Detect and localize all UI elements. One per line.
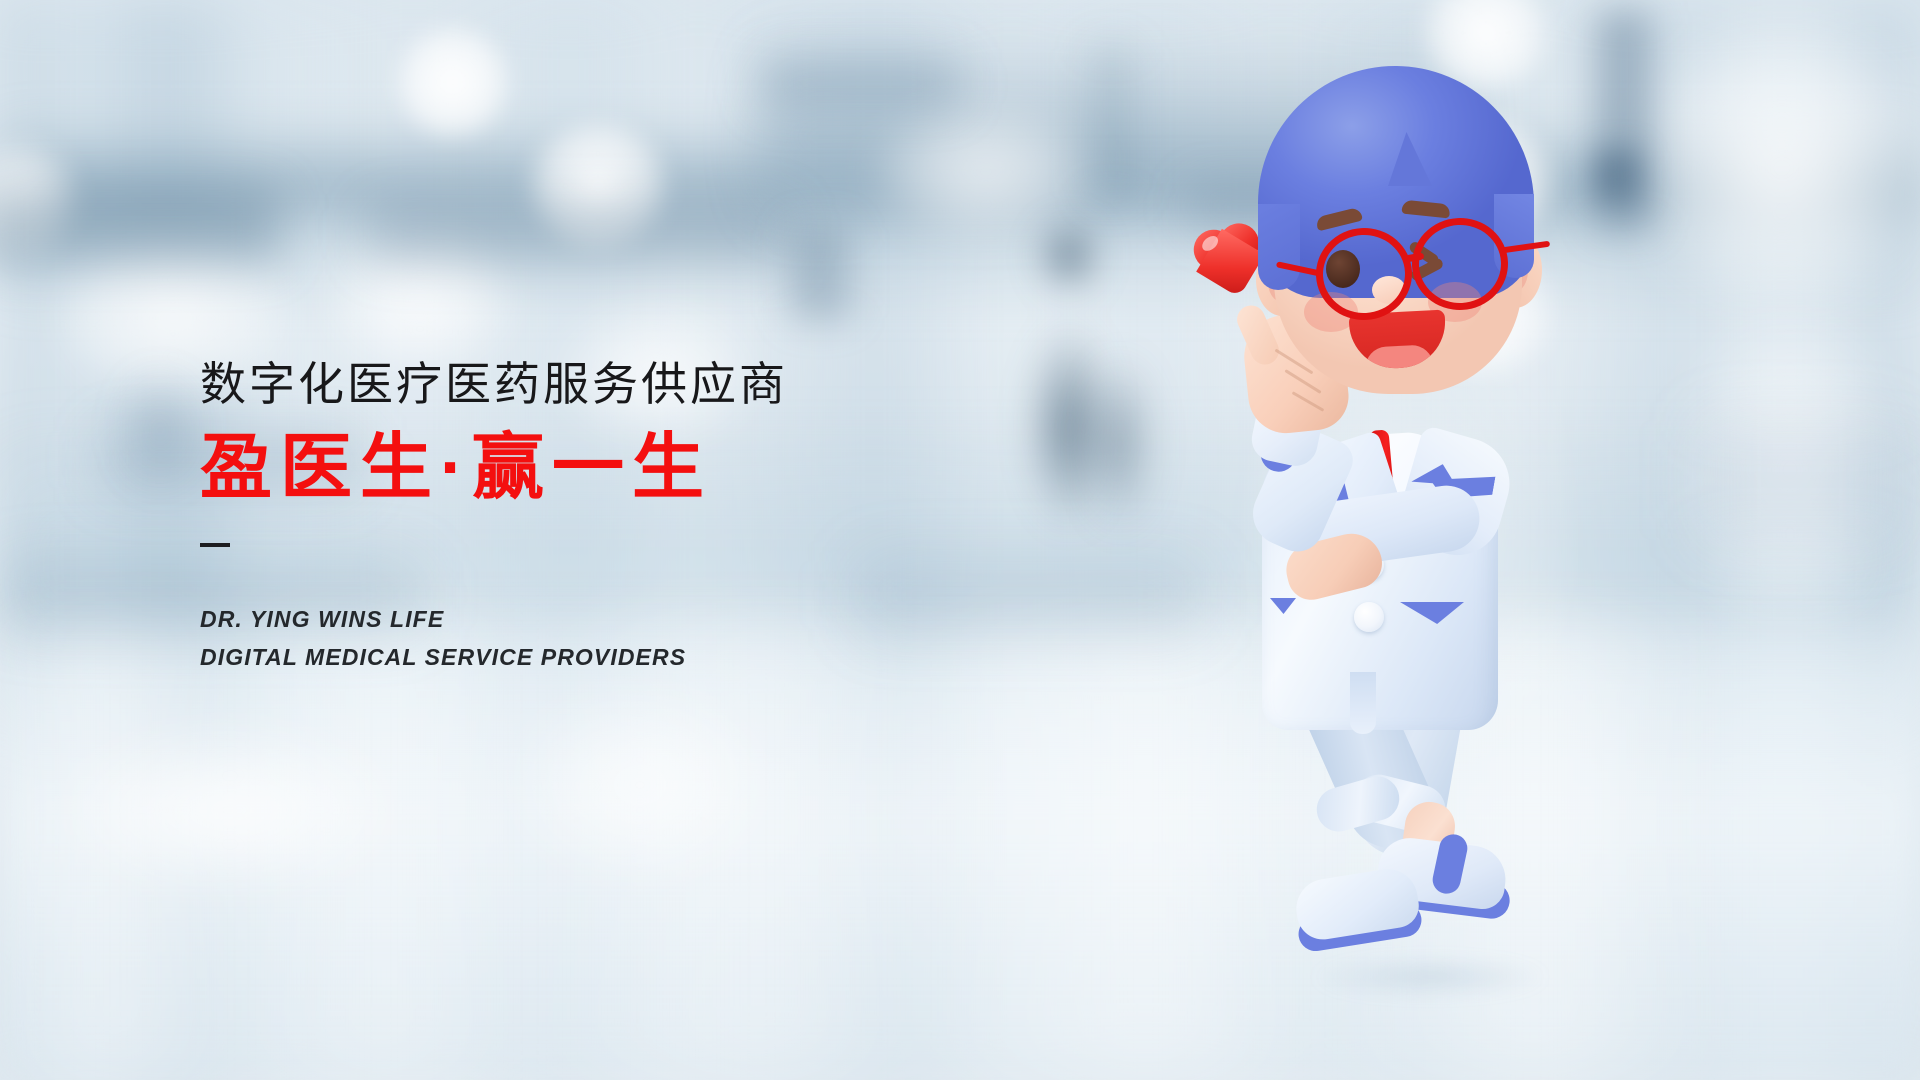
bokeh-light xyxy=(520,700,760,870)
tagline-line-1: DR. YING WINS LIFE xyxy=(200,601,1020,638)
glasses-lens-right xyxy=(1410,216,1511,313)
background-dark-panel xyxy=(0,188,280,264)
background-dark-panel xyxy=(790,226,850,320)
mascot-head xyxy=(1212,54,1542,454)
divider-rule xyxy=(200,543,230,547)
glasses-icon xyxy=(1262,214,1552,324)
mascot-tongue xyxy=(1364,344,1434,370)
bokeh-light xyxy=(1632,28,1920,308)
background-dark-panel xyxy=(1700,420,1900,540)
mascot-doctor-character xyxy=(1178,42,1638,1042)
bokeh-light xyxy=(70,740,390,880)
hero-text-block: 数字化医疗医药服务供应商 盈医生·赢一生 DR. YING WINS LIFE … xyxy=(200,360,1020,676)
headline-chinese: 数字化医疗医药服务供应商 xyxy=(200,360,1020,410)
mascot-coat-button-lower xyxy=(1354,602,1384,632)
glasses-lens-left xyxy=(1314,226,1415,323)
hero-banner: 数字化医疗医药服务供应商 盈医生·赢一生 DR. YING WINS LIFE … xyxy=(0,0,1920,1080)
bokeh-light xyxy=(392,26,514,138)
tagline-group: DR. YING WINS LIFE DIGITAL MEDICAL SERVI… xyxy=(200,601,1020,676)
glasses-temple-right xyxy=(1502,241,1550,254)
background-dark-panel xyxy=(760,60,960,106)
background-person-silhouette-2 xyxy=(1075,300,1165,560)
slogan-chinese: 盈医生·赢一生 xyxy=(200,430,1020,508)
glasses-temple-left xyxy=(1276,261,1322,276)
tagline-line-2: DIGITAL MEDICAL SERVICE PROVIDERS xyxy=(200,639,1020,676)
mascot-coat-hem-notch xyxy=(1350,672,1376,734)
background-dark-panel xyxy=(1090,48,1134,198)
background-dark-panel xyxy=(370,206,790,262)
